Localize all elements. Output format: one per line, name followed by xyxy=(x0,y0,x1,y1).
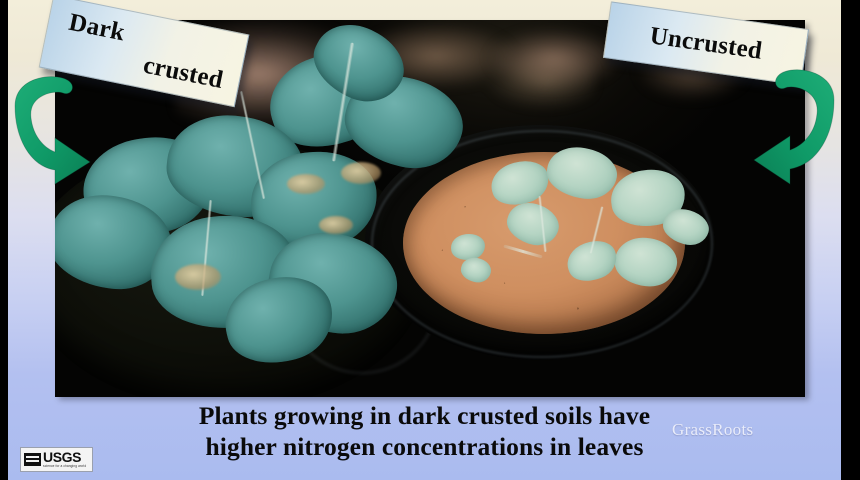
right-black-border xyxy=(841,0,860,480)
slide-canvas: Dark crusted Uncrusted Plants growi xyxy=(0,0,860,480)
leaf-necrotic-spot xyxy=(341,162,381,184)
curved-arrow-down-left-icon xyxy=(748,58,843,186)
label-uncrusted-text: Uncrusted xyxy=(648,22,764,65)
leaf-necrotic-spot xyxy=(175,264,221,290)
usgs-logo[interactable]: USGS science for a changing world xyxy=(20,447,93,472)
usgs-wave-mark-icon xyxy=(24,453,41,466)
grassroots-watermark: GrassRoots xyxy=(672,420,753,440)
curved-arrow-down-right-icon xyxy=(8,66,98,186)
left-black-border xyxy=(0,0,8,480)
usgs-tagline: science for a changing world xyxy=(43,465,86,468)
leaf-necrotic-spot xyxy=(319,216,353,234)
usgs-logo-text: USGS science for a changing world xyxy=(43,450,86,468)
leaf-necrotic-spot xyxy=(287,174,325,194)
usgs-wordmark: USGS xyxy=(43,450,86,464)
